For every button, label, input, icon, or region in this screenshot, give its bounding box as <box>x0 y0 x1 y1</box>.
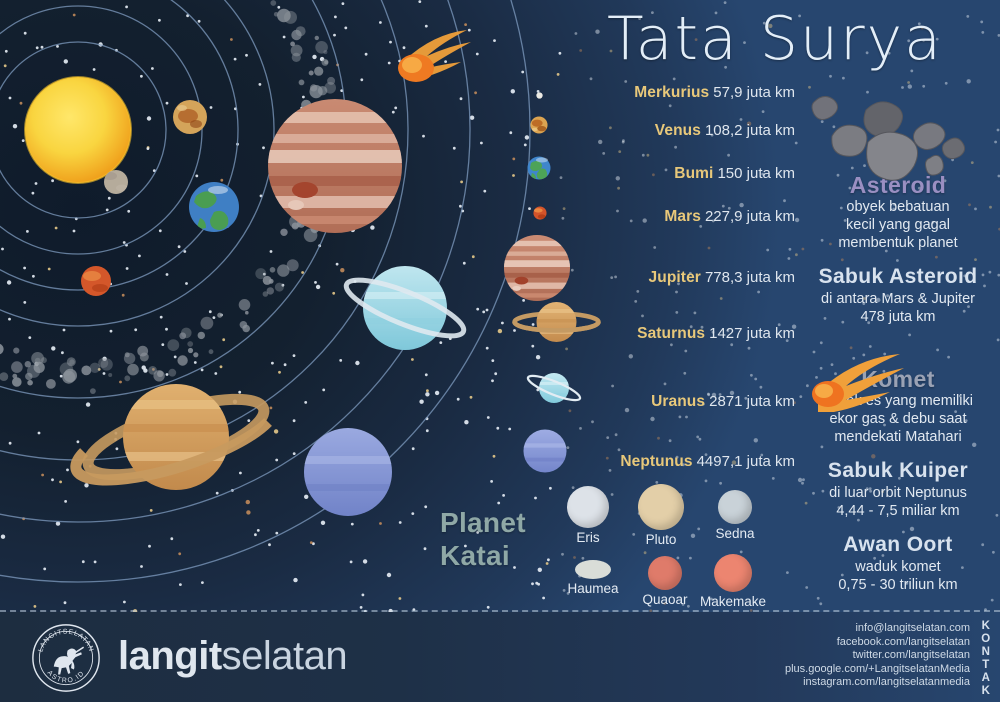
planet-distance: 778,3 juta km <box>705 269 795 286</box>
planet-icon-venus <box>530 116 548 134</box>
kontak-letter: N <box>978 646 994 659</box>
langitselatan-logo[interactable]: LANGITSELATAN ASTRO.ID <box>30 622 102 694</box>
planet-icon-mars <box>533 206 547 220</box>
logo-text-bottom: ASTRO.ID <box>46 670 87 685</box>
section-heading: Sabuk Kuiper <box>800 458 996 484</box>
planet-name: Neptunus <box>620 453 692 470</box>
section-body-line: di luar orbit Neptunus <box>800 484 996 502</box>
dwarf-planet-label: Sedna <box>690 526 780 541</box>
planet-row-mars: Mars227,9 juta km <box>664 208 795 226</box>
section-sabuk-asteroid: Sabuk Asteroiddi antara Mars & Jupiter47… <box>800 264 996 326</box>
kontak-letter: K <box>978 685 994 698</box>
planet-name: Uranus <box>651 393 705 410</box>
svg-text:ASTRO.ID: ASTRO.ID <box>46 670 87 685</box>
section-body-line: membentuk planet <box>800 234 996 252</box>
planet-distance: 227,9 juta km <box>705 208 795 225</box>
contact-line[interactable]: info@langitselatan.com <box>785 622 970 636</box>
planet-name: Bumi <box>674 165 713 182</box>
dwarf-planet-label: Makemake <box>688 594 778 609</box>
planet-row-merkurius: Merkurius57,9 juta km <box>634 84 795 102</box>
planet-distance: 57,9 juta km <box>713 84 795 101</box>
brand-wordmark: langitselatan <box>118 634 347 678</box>
section-body: di luar orbit Neptunus4,44 - 7,5 miliar … <box>800 484 996 520</box>
planet-icon-bumi <box>527 156 551 180</box>
kontak-letter: O <box>978 633 994 646</box>
section-sabuk-kuiper: Sabuk Kuiperdi luar orbit Neptunus4,44 -… <box>800 458 996 520</box>
planet-row-jupiter: Jupiter778,3 juta km <box>649 269 795 287</box>
planet-icon-uranus <box>519 368 589 408</box>
planet-row-saturnus: Saturnus1427 juta km <box>637 325 795 343</box>
planet-name: Jupiter <box>649 269 701 286</box>
section-heading: Awan Oort <box>800 532 996 558</box>
planet-name: Venus <box>655 122 701 139</box>
planet-icon-merkurius <box>536 86 543 93</box>
planet-distance: 1427 juta km <box>709 325 795 342</box>
footer-divider <box>0 610 1000 612</box>
brand-bold: langit <box>118 634 222 678</box>
comet-icon <box>812 352 932 412</box>
planet-row-neptunus: Neptunus4497,1 juta km <box>620 453 795 471</box>
dwarf-planet-body <box>638 484 684 530</box>
planet-icon-neptunus <box>523 429 567 473</box>
kontak-letter: A <box>978 672 994 685</box>
contact-line[interactable]: plus.google.com/+LangitselatanMedia <box>785 663 970 677</box>
section-body-line: kecil yang gagal <box>800 216 996 234</box>
planet-distance: 4497,1 juta km <box>697 453 795 470</box>
planet-name: Saturnus <box>637 325 705 342</box>
section-body: obyek bebatuankecil yang gagalmembentuk … <box>800 198 996 252</box>
section-body-line: 4,44 - 7,5 miliar km <box>800 502 996 520</box>
kontak-vertical-label: KONTAK <box>978 620 994 698</box>
dwarf-planet-sedna: Sedna <box>690 490 780 541</box>
section-body-line: mendekati Matahari <box>800 428 996 446</box>
dwarf-planet-makemake: Makemake <box>688 554 778 609</box>
section-body-line: 478 juta km <box>800 308 996 326</box>
dwarf-title-line-1: Planet <box>440 506 560 539</box>
dwarf-planet-body <box>575 560 611 579</box>
section-body-line: 0,75 - 30 triliun km <box>800 576 996 594</box>
section-body-line: ekor gas & debu saat <box>800 410 996 428</box>
logo-centaur-figure <box>54 646 84 674</box>
planet-row-uranus: Uranus2871 juta km <box>651 393 795 411</box>
contact-line[interactable]: instagram.com/langitselatanmedia <box>785 676 970 690</box>
brand-light: selatan <box>222 634 347 678</box>
planet-icon-jupiter <box>503 234 571 302</box>
dwarf-planet-title: Planet Katai <box>440 506 560 572</box>
planet-distance: 2871 juta km <box>709 393 795 410</box>
section-heading: Sabuk Asteroid <box>800 264 996 290</box>
planet-row-venus: Venus108,2 juta km <box>655 122 795 140</box>
dwarf-planet-body <box>567 486 609 528</box>
section-body: waduk komet0,75 - 30 triliun km <box>800 558 996 594</box>
section-body-line: di antara Mars & Jupiter <box>800 290 996 308</box>
planet-distance: 150 juta km <box>717 165 795 182</box>
contact-list: info@langitselatan.comfacebook.com/langi… <box>785 622 970 690</box>
planet-row-bumi: Bumi150 juta km <box>674 165 795 183</box>
planet-distance: 108,2 juta km <box>705 122 795 139</box>
section-body-line: obyek bebatuan <box>800 198 996 216</box>
dwarf-planet-body <box>648 556 682 590</box>
section-asteroid: Asteroidobyek bebatuankecil yang gagalme… <box>800 172 996 252</box>
infographic-poster: Tata Surya Merkurius57,9 juta kmVenus108… <box>0 0 1000 702</box>
dwarf-title-line-2: Katai <box>440 539 560 572</box>
asteroid-cluster-icon <box>810 92 990 184</box>
page-title: Tata Surya <box>560 2 990 78</box>
dwarf-planet-body <box>714 554 752 592</box>
planet-distance-list: Merkurius57,9 juta kmVenus108,2 juta kmB… <box>525 84 795 484</box>
dwarf-planet-body <box>718 490 752 524</box>
kontak-letter: T <box>978 659 994 672</box>
section-body-line: waduk komet <box>800 558 996 576</box>
planet-name: Mars <box>664 208 701 225</box>
planet-name: Merkurius <box>634 84 709 101</box>
section-body: di antara Mars & Jupiter478 juta km <box>800 290 996 326</box>
planet-icon-saturnus <box>511 296 602 348</box>
kontak-letter: K <box>978 620 994 633</box>
contact-line[interactable]: twitter.com/langitselatan <box>785 649 970 663</box>
contact-line[interactable]: facebook.com/langitselatan <box>785 636 970 650</box>
section-awan-oort: Awan Oortwaduk komet0,75 - 30 triliun km <box>800 532 996 594</box>
